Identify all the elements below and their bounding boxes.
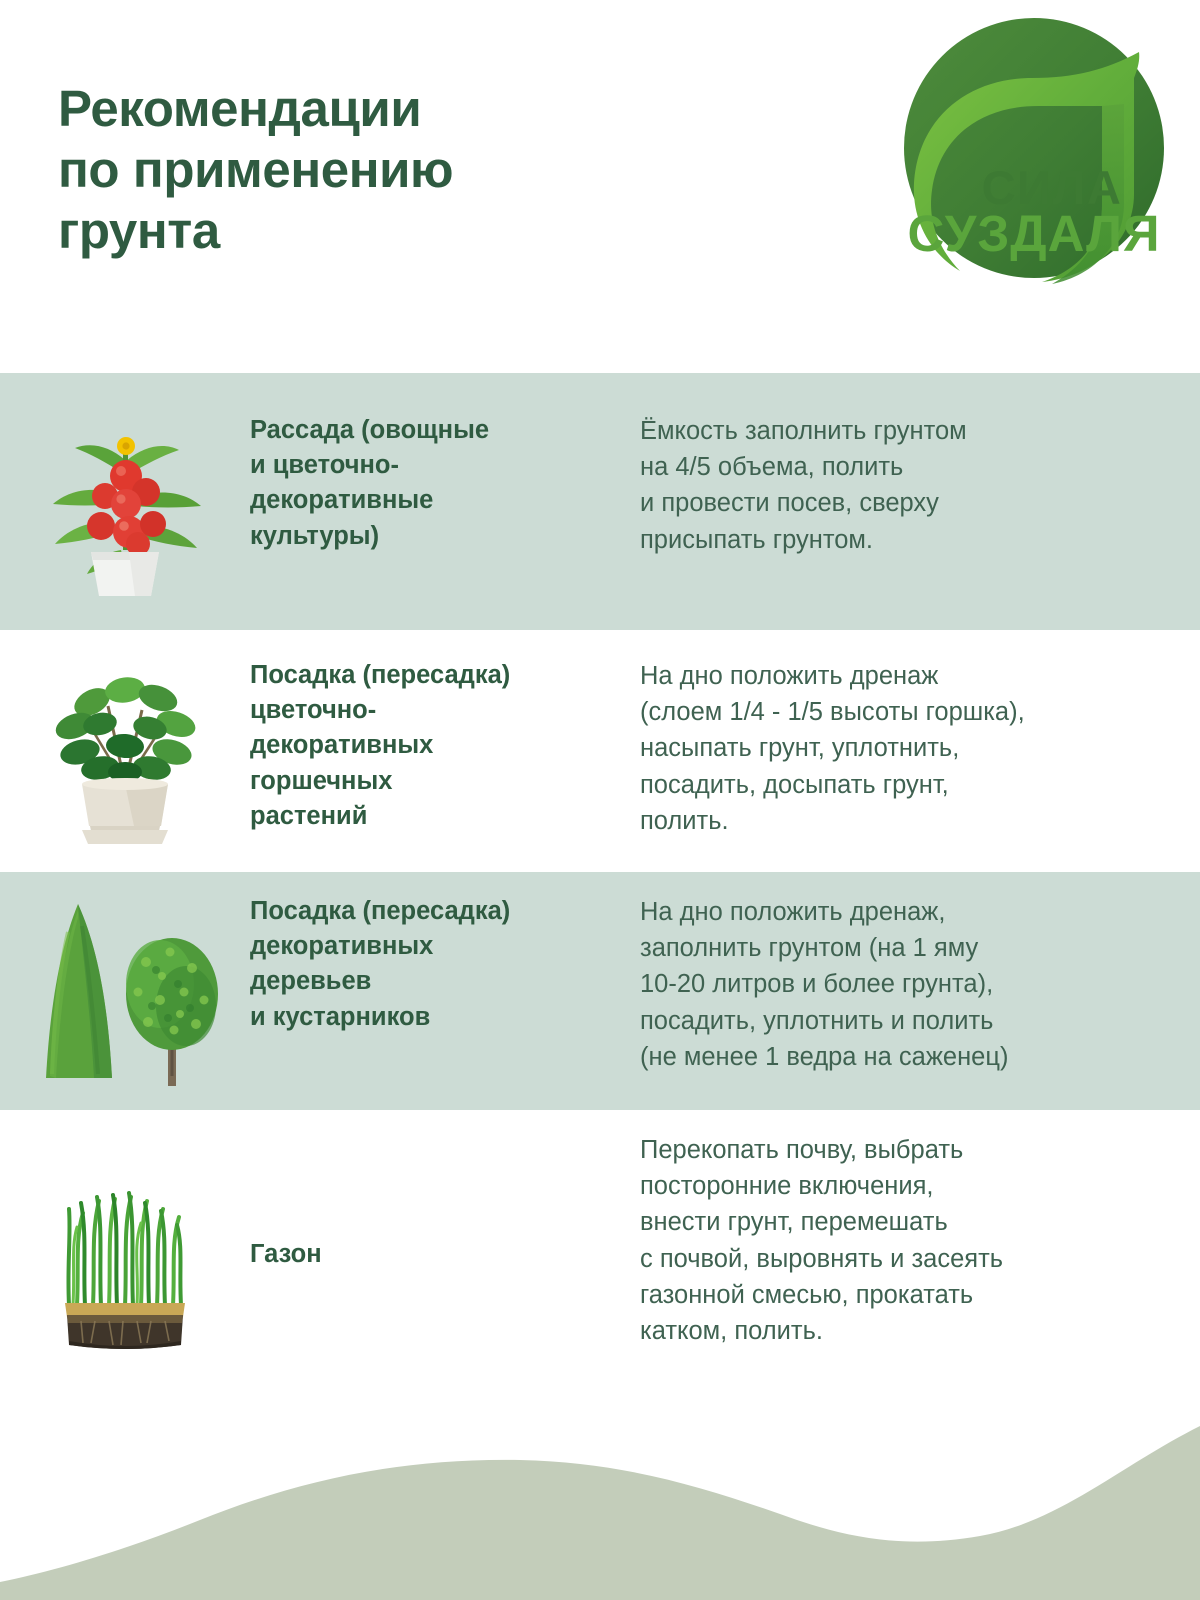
row-description: На дно положить дренаж, заполнить грунто… — [640, 872, 1200, 1110]
row-title: Посадка (пересадка) цветочно- декоративн… — [250, 630, 640, 872]
footer-wave-decoration — [0, 1370, 1200, 1600]
houseplant-leaves — [52, 674, 199, 782]
ornamental-trees-and-shrubs-image — [0, 872, 250, 1110]
logo-text-line2: СУЗДАЛЯ — [907, 205, 1160, 262]
tomato-seedling-in-pot-image — [0, 373, 250, 630]
brand-logo: СИЛА СУЗДАЛЯ — [856, 8, 1200, 298]
table-row: Посадка (пересадка) декоративных деревье… — [0, 872, 1200, 1110]
table-row: Газон Перекопать почву, выбрать посторон… — [0, 1110, 1200, 1400]
page-title: Рекомендации по применению грунта — [58, 78, 678, 262]
plant-pot — [91, 552, 159, 596]
row-title: Газон — [250, 1110, 640, 1400]
infographic-page: Рекомендации по применению грунта — [0, 0, 1200, 1600]
potted-houseplant-image — [0, 630, 250, 872]
tomato-fruits — [87, 460, 166, 556]
soil-block — [65, 1303, 185, 1349]
header: Рекомендации по применению грунта — [0, 0, 1200, 373]
row-title: Посадка (пересадка) декоративных деревье… — [250, 872, 640, 1110]
row-description: На дно положить дренаж (слоем 1/4 - 1/5 … — [640, 630, 1200, 872]
row-description: Перекопать почву, выбрать посторонние вк… — [640, 1110, 1200, 1400]
wave-shape — [0, 1426, 1200, 1600]
grass-turf-block-image — [0, 1110, 250, 1400]
row-title: Рассада (овощные и цветочно- декоративны… — [250, 373, 640, 630]
recommendation-rows: Рассада (овощные и цветочно- декоративны… — [0, 373, 1200, 1400]
table-row: Посадка (пересадка) цветочно- декоративн… — [0, 630, 1200, 872]
ceramic-pot — [82, 778, 168, 844]
grass-blades — [68, 1193, 181, 1305]
table-row: Рассада (овощные и цветочно- декоративны… — [0, 373, 1200, 630]
conifer-tree — [46, 904, 112, 1078]
row-description: Ёмкость заполнить грунтом на 4/5 объема,… — [640, 373, 1200, 630]
shrub-tree — [126, 938, 218, 1086]
